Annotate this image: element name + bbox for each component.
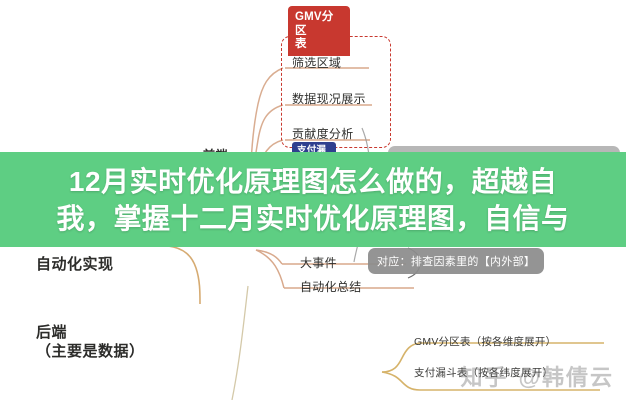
leaf-major-events[interactable]: 大事件 [300, 254, 337, 271]
branch-label-backend: 后端 （主要是数据） [36, 324, 145, 362]
leaf-gmv-partition-by-dimension[interactable]: GMV分区表（按各维度展开） [414, 334, 556, 349]
overlay-title: 12月实时优化原理图怎么做的，超越自 我，掌握十二月实时优化原理图，自信与 [0, 157, 626, 245]
watermark-site: 知乎 [461, 365, 509, 390]
screenshot-canvas: GMV分区 表 筛选区域 数据现况展示 贡献度分析 支付漏 斗表 对应：核心指标… [0, 0, 626, 400]
leaf-contribution-analysis[interactable]: 贡献度分析 [292, 125, 354, 142]
watermark: 知乎@韩倩云 [461, 360, 614, 392]
watermark-author: @韩倩云 [519, 365, 614, 390]
overlay-title-line-2: 我，掌握十二月实时优化原理图，自信与 [56, 201, 569, 238]
leaf-automation-summary[interactable]: 自动化总结 [300, 278, 362, 295]
leaf-filter-area[interactable]: 筛选区域 [292, 54, 341, 71]
leaf-data-status-display[interactable]: 数据现况展示 [292, 90, 366, 107]
overlay-title-line-1: 12月实时优化原理图怎么做的，超越自 [69, 164, 557, 201]
branch-label-automation-implementation: 自动化实现 [36, 256, 114, 275]
tooltip-internal-external-factors: 对应：排查因素里的【内外部】 [368, 248, 544, 274]
